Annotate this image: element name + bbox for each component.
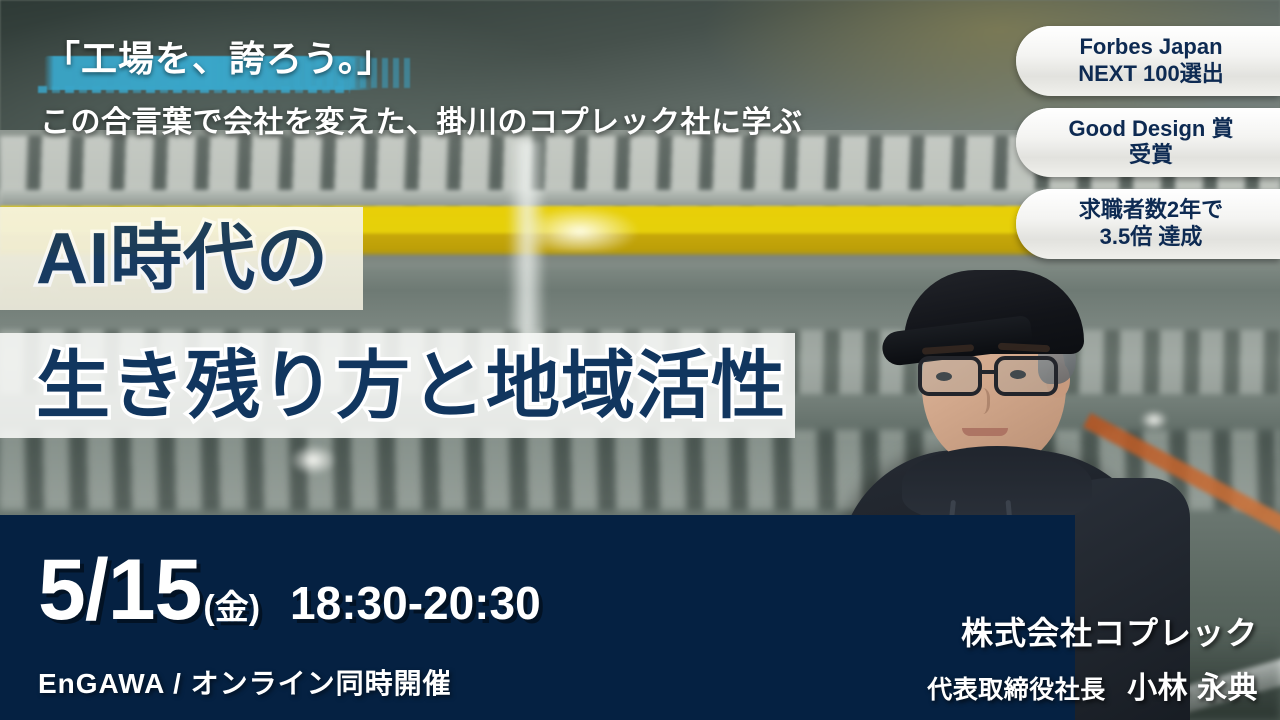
sub-kicker-headline: この合言葉で会社を変えた、掛川のコプレック社に学ぶ <box>40 97 803 141</box>
event-datetime: 5/15 (金) 18:30-20:30 <box>38 547 541 633</box>
event-time: 18:30-20:30 <box>290 576 541 630</box>
event-day-of-week: (金) <box>203 580 260 629</box>
title-band-primary: AI時代の <box>0 207 363 310</box>
event-banner: PR 「工場を、誇ろう。」 この合言葉で会社を変えた、掛川のコプレック社に学ぶ <box>0 0 1280 720</box>
title-line-2: 生き残り方と地域活性 <box>36 349 786 423</box>
badge-line-2: 3.5倍 達成 <box>1100 224 1203 251</box>
event-venue: EnGAWA / オンライン同時開催 <box>38 662 452 702</box>
event-date: 5/15 <box>38 547 201 633</box>
ceiling-lamp <box>290 445 336 475</box>
speaker-info: 株式会社コプレック 代表取締役社長 小林 永典 <box>927 608 1258 707</box>
nose <box>972 388 990 414</box>
speaker-company: 株式会社コプレック <box>927 608 1258 654</box>
award-badge-forbes: Forbes Japan NEXT 100選出 <box>1016 26 1280 96</box>
title-band-secondary: 生き残り方と地域活性 <box>0 333 795 438</box>
speaker-name: 小林 永典 <box>1127 672 1258 705</box>
award-badge-good-design: Good Design 賞 受賞 <box>1016 108 1280 178</box>
title-line-1: AI時代の <box>36 223 329 295</box>
hood-collar <box>902 446 1092 522</box>
speaker-role-and-name: 代表取締役社長 小林 永典 <box>927 663 1258 707</box>
lens-right <box>994 356 1058 396</box>
award-badge-list: Forbes Japan NEXT 100選出 Good Design 賞 受賞… <box>1016 26 1280 259</box>
badge-line-2: NEXT 100選出 <box>1078 61 1224 88</box>
mouth <box>962 428 1008 436</box>
award-badge-applicants: 求職者数2年で 3.5倍 達成 <box>1016 189 1280 259</box>
eyeglasses <box>914 356 1074 396</box>
badge-line-1: Good Design 賞 <box>1068 116 1233 143</box>
badge-line-2: 受賞 <box>1129 142 1173 169</box>
badge-line-1: 求職者数2年で <box>1079 197 1223 224</box>
speaker-role: 代表取締役社長 <box>927 676 1106 704</box>
badge-line-1: Forbes Japan <box>1079 34 1222 61</box>
kicker-headline: 「工場を、誇ろう。」 <box>44 30 394 82</box>
